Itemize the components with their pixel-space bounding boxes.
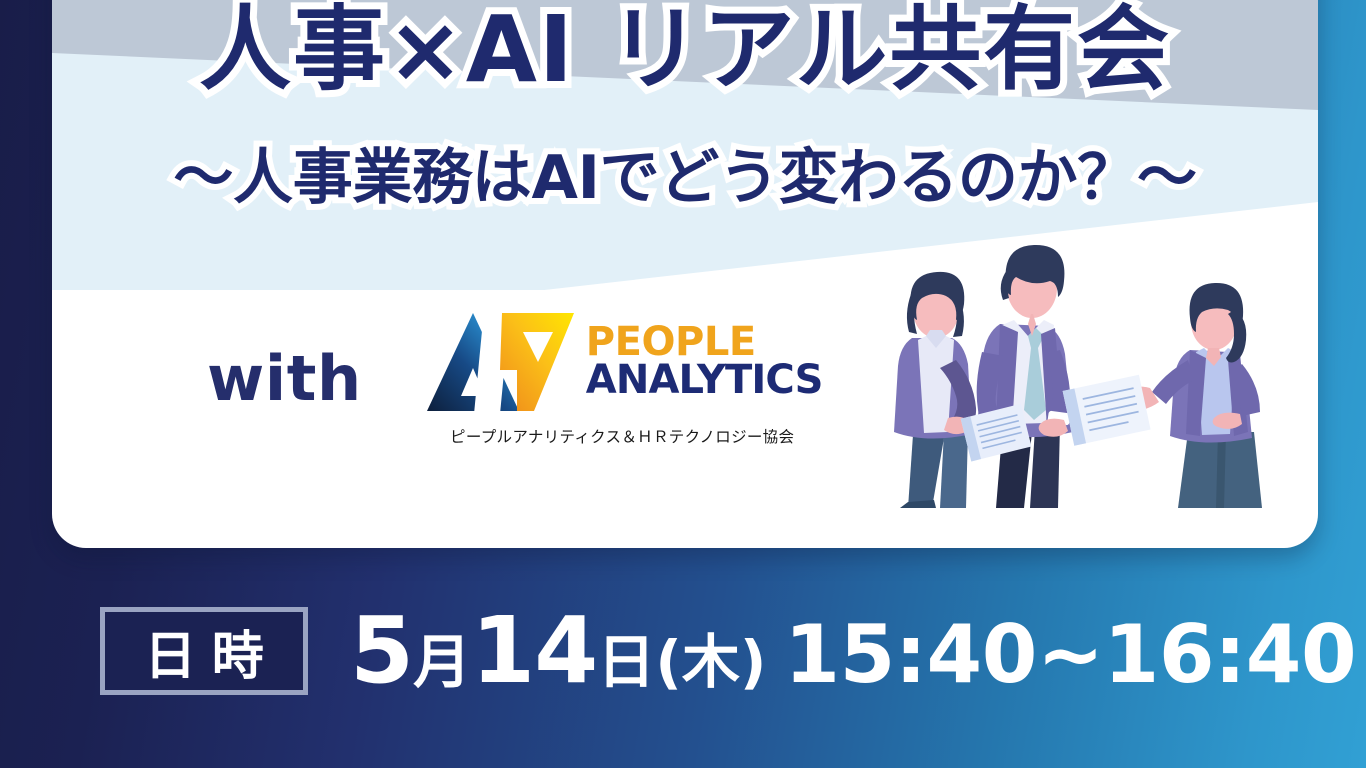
datetime-value: 5 月 14 日 (木) 15:40~16:40 xyxy=(350,605,1356,697)
event-datetime-row: 日時 5 月 14 日 (木) 15:40~16:40 xyxy=(0,586,1366,716)
business-people-illustration xyxy=(878,232,1298,508)
month-number: 5 xyxy=(350,605,413,697)
people-analytics-mark-icon xyxy=(422,310,576,419)
headline-title: 人事×AI リアル共有会 xyxy=(52,4,1318,96)
logo-japanese-name: ピープルアナリティクス＆ＨＲテクノロジー協会 xyxy=(450,425,794,447)
logo-word-analytics: ANALYTICS xyxy=(586,361,823,400)
people-analytics-logo: PEOPLE ANALYTICS ピープルアナリティクス＆ＨＲテクノロジー協会 xyxy=(422,310,823,447)
day-number: 14 xyxy=(471,605,597,697)
time-range: 15:40~16:40 xyxy=(784,615,1356,695)
partner-row: with xyxy=(207,310,823,447)
logo-word-people: PEOPLE xyxy=(586,324,823,361)
event-banner: 人事×AI リアル共有会 〜人事業務はAIでどう変わるのか？〜 with xyxy=(0,0,1366,768)
headline-subtitle: 〜人事業務はAIでどう変わるのか？〜 xyxy=(52,148,1318,208)
day-unit: 日 xyxy=(597,633,655,691)
month-unit: 月 xyxy=(413,633,471,691)
with-label: with xyxy=(207,342,362,415)
weekday: (木) xyxy=(655,633,766,691)
datetime-badge: 日時 xyxy=(100,607,308,695)
content-card: 人事×AI リアル共有会 〜人事業務はAIでどう変わるのか？〜 with xyxy=(52,0,1318,548)
